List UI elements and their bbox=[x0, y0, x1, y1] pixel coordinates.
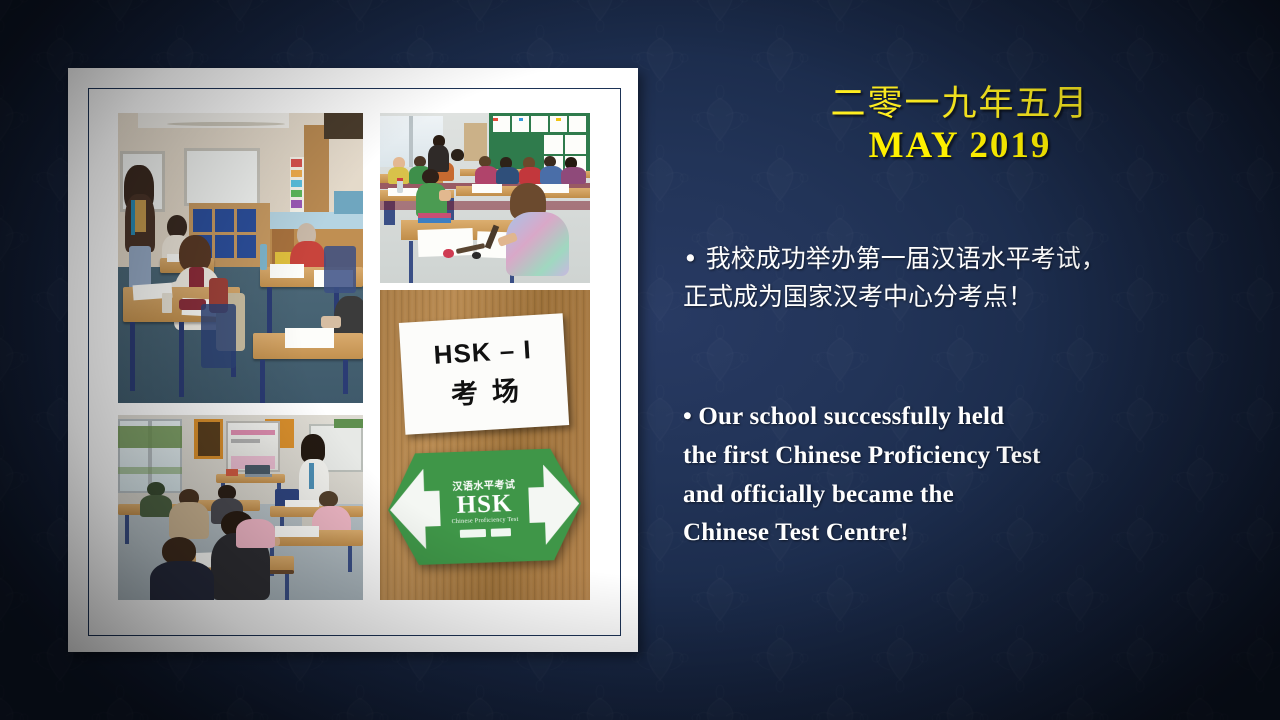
body-cn-line-1: • 我校成功举办第一届汉语水平考试， bbox=[683, 240, 1228, 278]
body-en-line-2: the first Chinese Proficiency Test bbox=[683, 437, 1228, 476]
hsk-exam-room-notice: HSK – I 考场 bbox=[399, 313, 569, 434]
body-text-chinese: • 我校成功举办第一届汉语水平考试， 正式成为国家汉考中心分考点！ bbox=[683, 240, 1228, 316]
photo-exam-room bbox=[118, 415, 363, 600]
hsk-sign-abbreviation: HSK bbox=[457, 492, 514, 518]
hsk-sign-logos bbox=[460, 528, 511, 538]
publisher-logo-icon bbox=[460, 529, 486, 538]
title-block: 二零一九年五月 MAY 2019 bbox=[660, 84, 1260, 168]
body-en-line-4: Chinese Test Centre! bbox=[683, 514, 1228, 553]
photo-grid: HSK – I 考场 汉语水平考试 HSK Chinese Proficienc… bbox=[118, 113, 590, 600]
photo-classroom-pupils bbox=[380, 113, 590, 283]
photo-collage-frame: HSK – I 考场 汉语水平考试 HSK Chinese Proficienc… bbox=[68, 68, 638, 652]
slide-canvas: HSK – I 考场 汉语水平考试 HSK Chinese Proficienc… bbox=[0, 0, 1280, 720]
page-title-chinese: 二零一九年五月 bbox=[660, 84, 1260, 125]
hsk-sign-textblock: 汉语水平考试 HSK Chinese Proficiency Test bbox=[439, 452, 532, 562]
photo-classroom-left bbox=[118, 113, 363, 403]
body-en-line-1: • Our school successfully held bbox=[683, 398, 1228, 437]
body-en-line-3: and officially became the bbox=[683, 476, 1228, 515]
hsk-notice-line2: 考场 bbox=[436, 368, 534, 413]
page-title-english: MAY 2019 bbox=[660, 125, 1260, 168]
hanban-logo-icon bbox=[491, 528, 511, 537]
body-cn-line-2: 正式成为国家汉考中心分考点！ bbox=[683, 278, 1228, 316]
hsk-sign-english: Chinese Proficiency Test bbox=[452, 517, 519, 525]
hsk-notice-line1: HSK – I bbox=[433, 334, 533, 371]
hsk-directional-arrow-sign: 汉语水平考试 HSK Chinese Proficiency Test bbox=[387, 448, 584, 566]
body-text-english: • Our school successfully held the first… bbox=[683, 398, 1228, 553]
photo-hsk-sign: HSK – I 考场 汉语水平考试 HSK Chinese Proficienc… bbox=[380, 290, 590, 600]
